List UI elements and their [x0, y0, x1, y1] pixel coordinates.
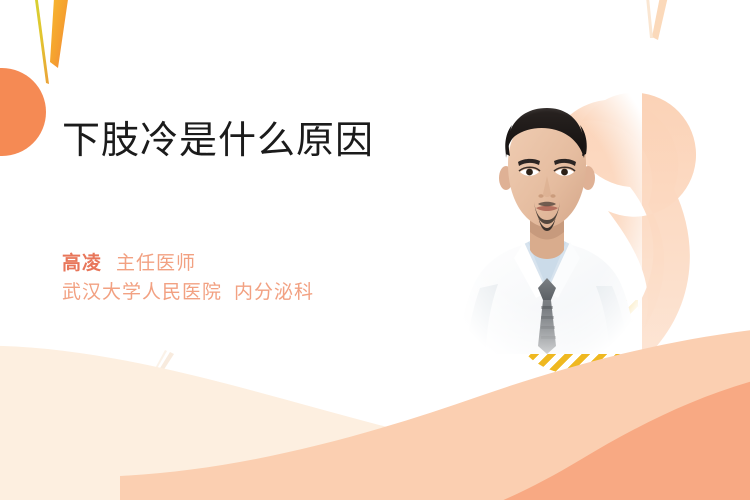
headline-block: 下肢冷是什么原因 — [62, 118, 442, 166]
doctor-byline-row-primary: 高凌 主任医师 — [62, 249, 462, 278]
page-title: 下肢冷是什么原因 — [62, 118, 442, 166]
doctor-byline-row-secondary: 武汉大学人民医院 内分泌科 — [62, 278, 462, 307]
decorative-diagonal-stripe-bottom-left — [138, 348, 186, 392]
doctor-hospital: 武汉大学人民医院 — [62, 278, 222, 307]
decorative-wave-dark — [330, 340, 750, 500]
doctor-portrait — [452, 92, 642, 354]
decorative-wave-mid — [120, 310, 750, 500]
doctor-info-card: 下肢冷是什么原因 高凌 主任医师 武汉大学人民医院 内分泌科 — [0, 0, 750, 500]
decorative-diagonal-stripes-top-left — [26, 0, 116, 86]
doctor-title: 主任医师 — [116, 249, 196, 278]
decorative-orange-circle — [0, 68, 46, 156]
doctor-department: 内分泌科 — [234, 278, 314, 307]
doctor-byline: 高凌 主任医师 武汉大学人民医院 内分泌科 — [62, 249, 462, 308]
doctor-name: 高凌 — [62, 249, 102, 278]
decorative-diagonal-stripes-top-right — [628, 0, 698, 62]
